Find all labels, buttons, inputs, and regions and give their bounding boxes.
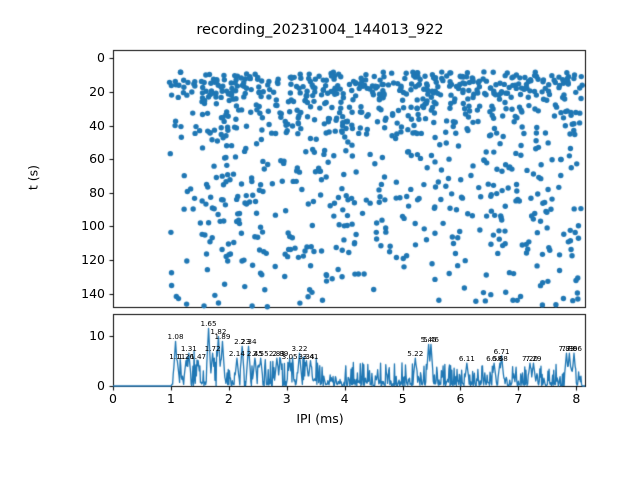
x-tick-label: 4: [325, 391, 365, 406]
y-tick-label: 40: [59, 118, 105, 133]
x-tick-label: 3: [267, 391, 307, 406]
peak-label: 6.71: [494, 347, 510, 356]
x-tick-label: 5: [383, 391, 423, 406]
peak-label: 6.11: [459, 354, 475, 363]
plot-canvas: [0, 0, 640, 480]
y-tick-label: 100: [59, 218, 105, 233]
y-tick-label: 120: [59, 252, 105, 267]
peak-label: 2.14: [229, 349, 245, 358]
x-tick-label: 0: [93, 391, 133, 406]
y-tick-label: 20: [59, 84, 105, 99]
histogram-y-tick-label: 10: [59, 328, 105, 343]
peak-label: 3.41: [302, 352, 318, 361]
x-tick-label: 6: [440, 391, 480, 406]
peak-label: 7.29: [525, 354, 541, 363]
x-tick-label: 7: [498, 391, 538, 406]
peak-label: 1.72: [205, 344, 221, 353]
peak-label: 5.46: [423, 335, 439, 344]
y-tick-label: 80: [59, 185, 105, 200]
peak-label: 1.89: [214, 332, 230, 341]
histogram-y-tick-label: 0: [59, 378, 105, 393]
peak-label: 5.22: [407, 349, 423, 358]
y-tick-label: 140: [59, 286, 105, 301]
y-tick-label: 60: [59, 151, 105, 166]
x-tick-label: 8: [556, 391, 596, 406]
matplotlib-figure: recording_20231004_144013_922 t (s) IPI …: [0, 0, 640, 480]
y-tick-label: 0: [59, 50, 105, 65]
peak-label: 7.96: [566, 344, 582, 353]
peak-label: 2.55: [253, 349, 269, 358]
x-tick-label: 1: [151, 391, 191, 406]
x-tick-label: 2: [209, 391, 249, 406]
peak-label: 2.34: [241, 337, 257, 346]
peak-label: 1.08: [168, 332, 184, 341]
